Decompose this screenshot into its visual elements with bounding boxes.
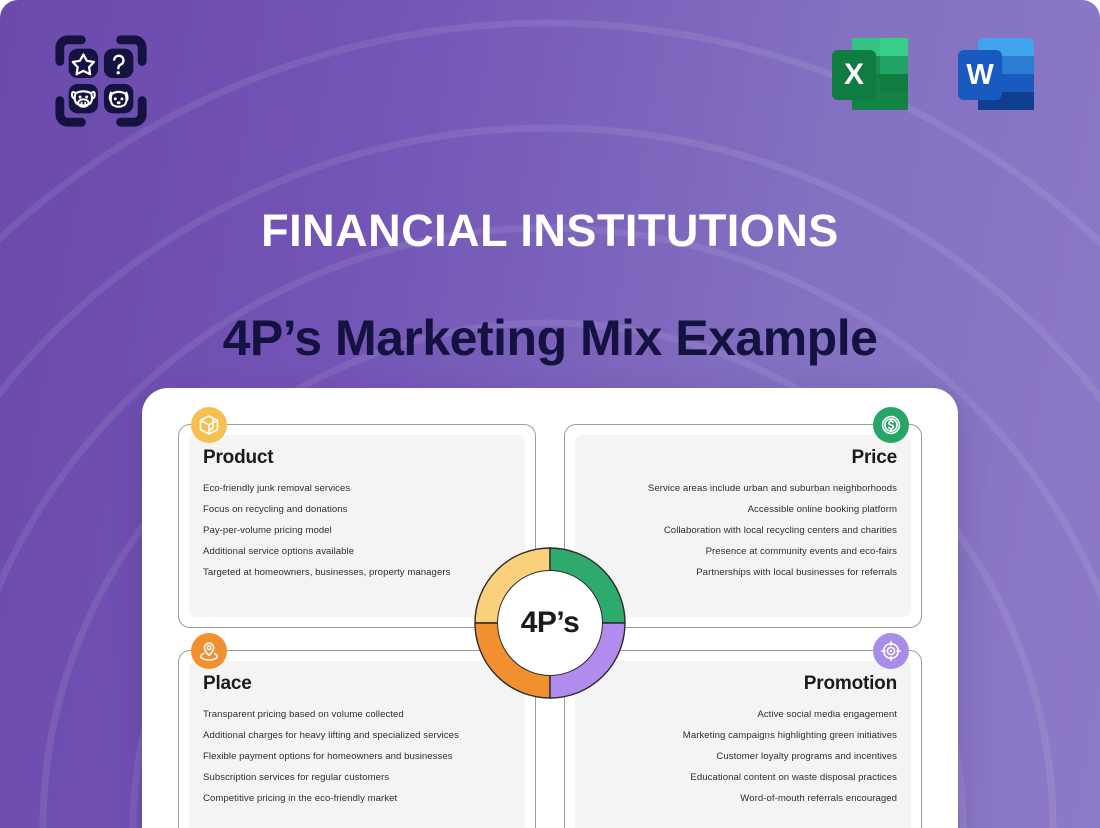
quadrant-item-list: Transparent pricing based on volume coll…	[203, 709, 511, 805]
list-item: Educational content on waste disposal pr…	[589, 772, 897, 784]
list-item: Eco-friendly junk removal services	[203, 483, 511, 495]
list-item: Subscription services for regular custom…	[203, 772, 511, 784]
quadrant-item-list: Active social media engagement Marketing…	[589, 709, 897, 805]
brand-logo[interactable]	[52, 32, 150, 130]
target-crosshair-icon	[873, 633, 909, 669]
scanner-pets-logo-icon	[52, 32, 150, 130]
dollar-coin-icon	[873, 407, 909, 443]
quadrant-title: Price	[589, 447, 897, 469]
excel-icon[interactable]: X	[820, 26, 920, 126]
list-item: Word-of-mouth referrals encouraged	[589, 793, 897, 805]
file-format-icons: X W	[820, 26, 1046, 126]
eyebrow-title: FINANCIAL INSTITUTIONS	[0, 206, 1100, 256]
list-item: Competitive pricing in the eco-friendly …	[203, 793, 511, 805]
location-pin-icon	[191, 633, 227, 669]
list-item: Service areas include urban and suburban…	[589, 483, 897, 495]
svg-text:W: W	[966, 59, 994, 91]
list-item: Customer loyalty programs and incentives	[589, 751, 897, 763]
page-title: 4P’s Marketing Mix Example	[0, 310, 1100, 368]
center-donut-chart: 4P’s	[462, 535, 638, 711]
list-item: Accessible online booking platform	[589, 504, 897, 516]
donut-center-hub: 4P’s	[497, 570, 603, 676]
list-item: Flexible payment options for homeowners …	[203, 751, 511, 763]
package-box-icon	[191, 407, 227, 443]
poster-canvas: X W FINANCIAL INSTITUTIONS 4P’s Marketin…	[0, 0, 1100, 828]
word-icon[interactable]: W	[946, 26, 1046, 126]
list-item: Additional charges for heavy lifting and…	[203, 730, 511, 742]
list-item: Marketing campaigns highlighting green i…	[589, 730, 897, 742]
list-item: Focus on recycling and donations	[203, 504, 511, 516]
svg-text:X: X	[844, 58, 864, 91]
diagram-card: Product Eco-friendly junk removal servic…	[142, 388, 958, 828]
quadrant-title: Product	[203, 447, 511, 469]
donut-center-label: 4P’s	[521, 606, 580, 640]
